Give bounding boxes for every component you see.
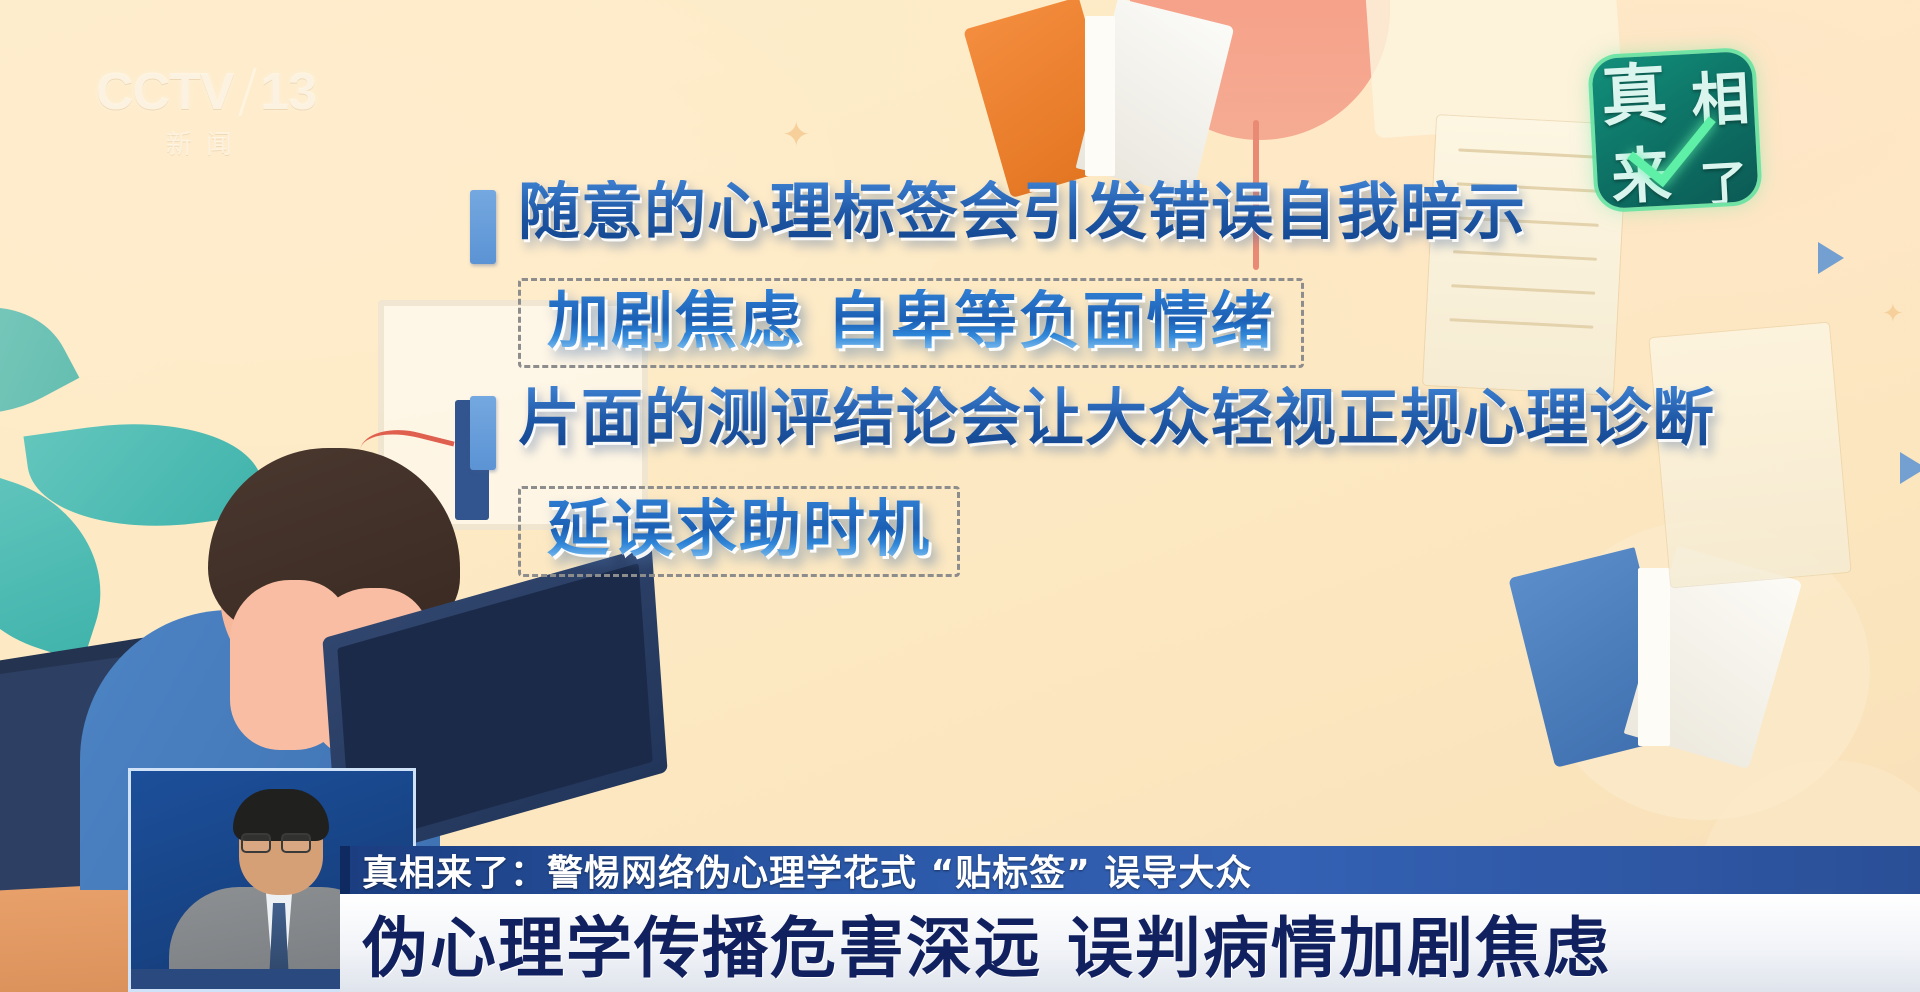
callout-row-3: 片面的测评结论会让大众轻视正规心理诊断 [470, 386, 1890, 486]
callout-row-1: 随意的心理标签会引发错误自我暗示 [470, 180, 1890, 276]
cctv-channel-logo: CCTV 13 新闻 [96, 62, 316, 162]
lower-third-subtitle-text: 真相来了：警惕网络伪心理学花式 “贴标签” 误导大众 [362, 844, 1252, 896]
callout-dashed-box-1: 加剧焦虑 自卑等负面情绪 [518, 278, 1304, 368]
callout-text-block: 随意的心理标签会引发错误自我暗示 加剧焦虑 自卑等负面情绪 片面的测评结论会让大… [470, 180, 1890, 577]
callout-bullet-2 [470, 396, 496, 470]
lower-third-subtitle-bar: 真相来了：警惕网络伪心理学花式 “贴标签” 误导大众 [340, 846, 1920, 894]
callout-row-4: 延误求助时机 [470, 476, 1890, 576]
callout-dashed-box-2: 延误求助时机 [518, 486, 960, 576]
lower-third-headline-text: 伪心理学传播危害深远 误判病情加剧焦虑 [362, 895, 1611, 991]
cctv-wordmark: CCTV 13 [96, 62, 316, 122]
callout-row-2: 加剧焦虑 自卑等负面情绪 [470, 268, 1890, 368]
callout-line-4: 延误求助时机 [547, 497, 931, 561]
anchor-glasses-right [281, 833, 311, 853]
broadcast-screen: ✦ ✦ CCTV 13 新闻 真 相 来 了 随意的心理标签会引发错误自我暗示 [0, 0, 1920, 992]
cctv-letters: CCTV [96, 62, 234, 122]
subtitle-bar-cap [340, 846, 350, 894]
callout-line-1: 随意的心理标签会引发错误自我暗示 [518, 180, 1890, 244]
sparkle-icon: ✦ [782, 118, 811, 152]
callout-bullet-1 [470, 190, 496, 264]
cctv-channel-number: 13 [260, 62, 316, 122]
lower-third-headline-bar: 伪心理学传播危害深远 误判病情加剧焦虑 [340, 894, 1920, 992]
anchor-glasses-left [241, 833, 271, 853]
arrow-tip-2 [1900, 452, 1920, 484]
cctv-channel-subtitle: 新闻 [96, 124, 316, 161]
callout-line-3: 片面的测评结论会让大众轻视正规心理诊断 [518, 386, 1890, 450]
callout-line-2: 加剧焦虑 自卑等负面情绪 [547, 289, 1275, 353]
cctv-slash-divider [238, 68, 256, 116]
